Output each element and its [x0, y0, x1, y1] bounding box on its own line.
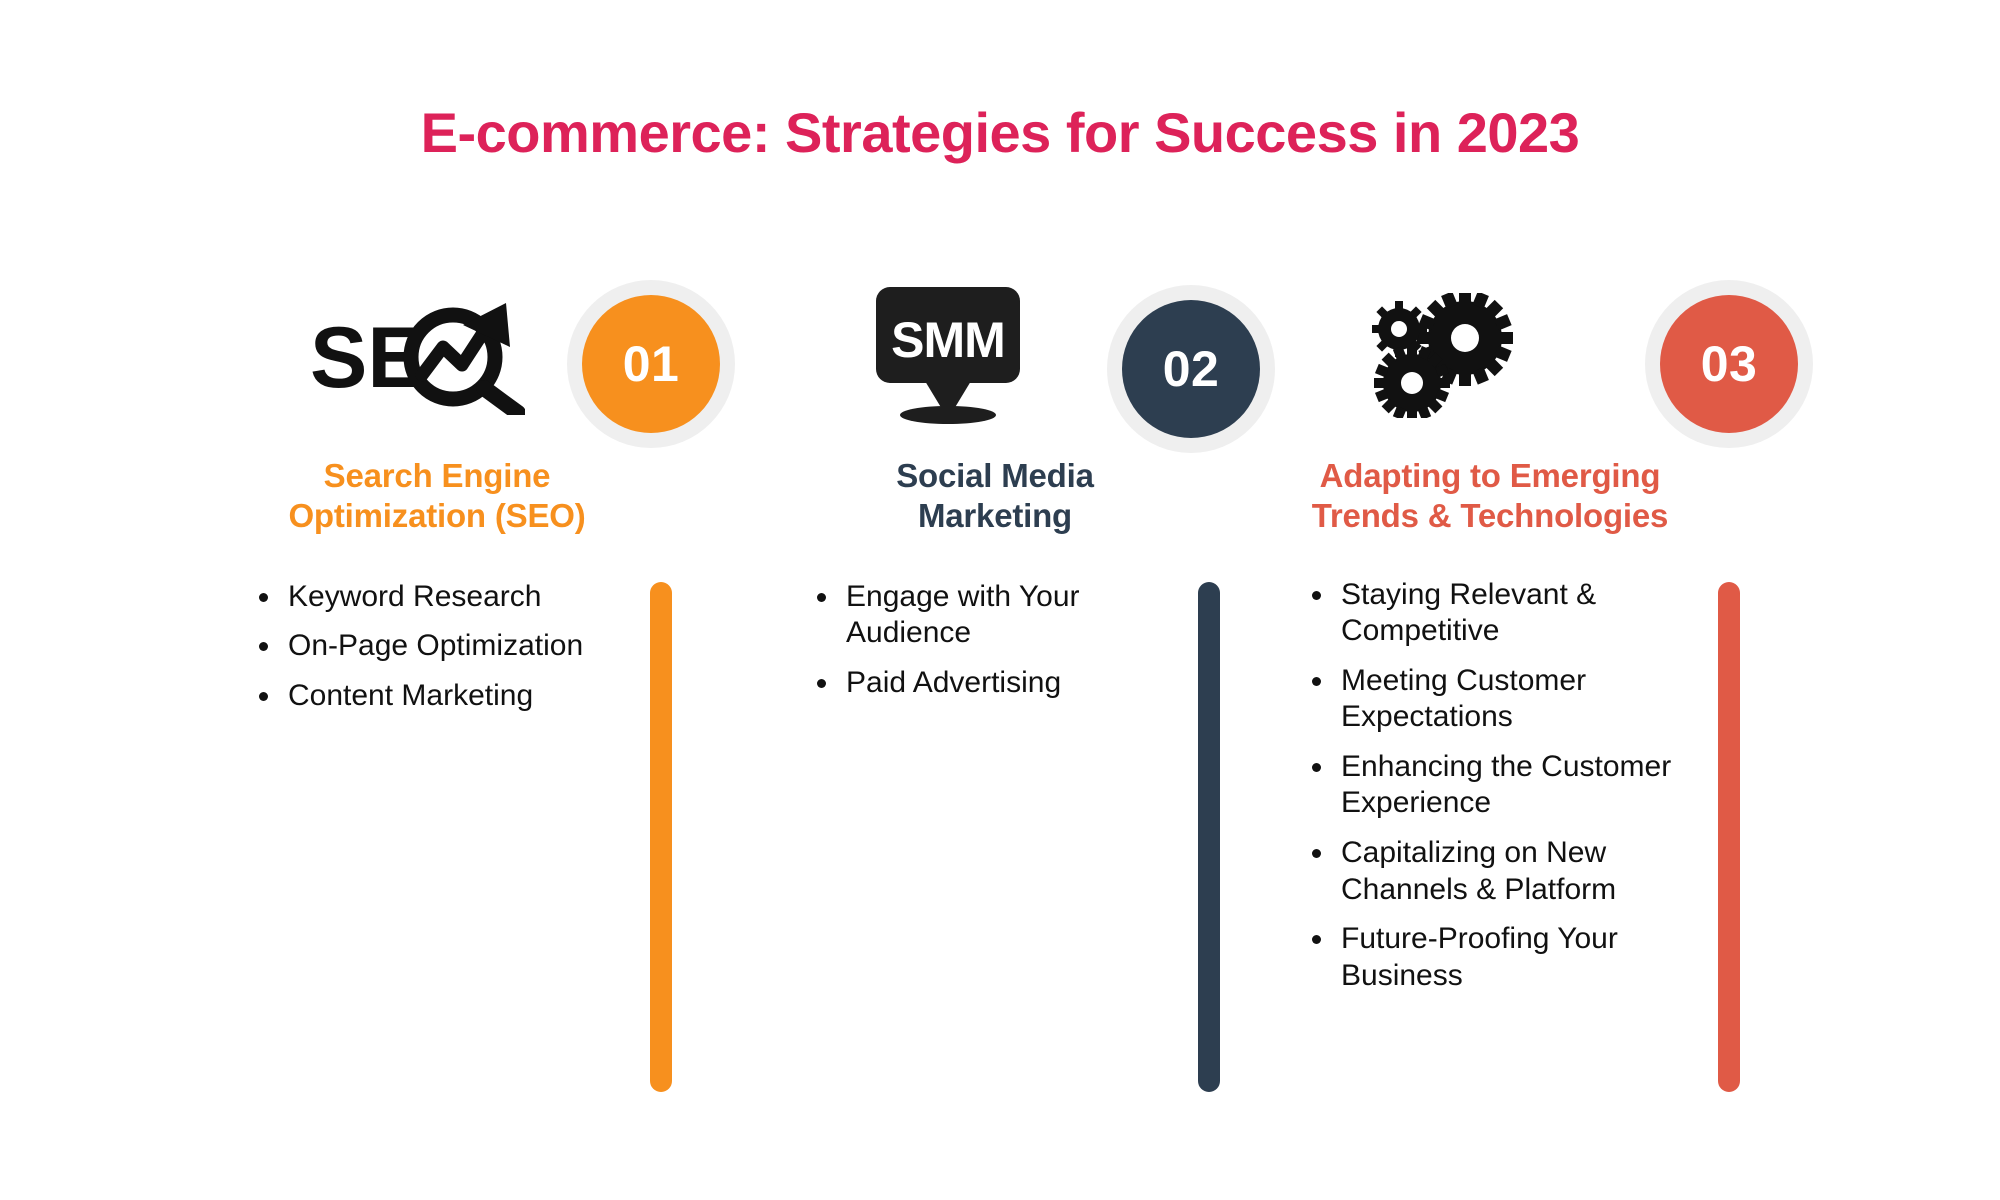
list-item: Engage with Your Audience [842, 579, 1210, 652]
page-title: E-commerce: Strategies for Success in 20… [0, 100, 2000, 165]
list-item: Keyword Research [284, 579, 652, 616]
step-badge-01: 01 [567, 280, 735, 448]
divider-bar-smm [1198, 582, 1220, 1092]
list-item: Meeting Customer Expectations [1337, 663, 1715, 736]
column-header-row-trends: 03 [1265, 280, 1715, 440]
column-smm: SMM 02 Social Media Marketing Engage wit… [780, 280, 1210, 714]
column-heading-seo: Search Engine Optimization (SEO) [222, 456, 652, 537]
step-number-02: 02 [1122, 300, 1260, 438]
bullet-list-seo: Keyword Research On-Page Optimization Co… [222, 579, 652, 715]
bullet-list-smm: Engage with Your Audience Paid Advertisi… [780, 579, 1210, 702]
infographic-canvas: E-commerce: Strategies for Success in 20… [0, 0, 2000, 1200]
list-item: On-Page Optimization [284, 628, 652, 665]
divider-bar-trends [1718, 582, 1740, 1092]
column-heading-smm: Social Media Marketing [780, 456, 1210, 537]
step-number-01: 01 [582, 295, 720, 433]
list-item: Paid Advertising [842, 665, 1210, 702]
list-item: Content Marketing [284, 678, 652, 715]
list-item: Capitalizing on New Channels & Platform [1337, 835, 1715, 908]
divider-bar-seo [650, 582, 672, 1092]
step-badge-02: 02 [1107, 285, 1275, 453]
smm-speech-bubble-icon: SMM [858, 280, 1038, 430]
column-header-row-smm: SMM 02 [780, 280, 1210, 440]
list-item: Staying Relevant & Competitive [1337, 577, 1715, 650]
svg-text:SMM: SMM [891, 312, 1005, 368]
column-trends: 03 Adapting to Emerging Trends & Technol… [1265, 280, 1715, 1007]
step-badge-03: 03 [1645, 280, 1813, 448]
column-header-row-seo: SE 01 [222, 280, 652, 440]
bullet-list-trends: Staying Relevant & Competitive Meeting C… [1265, 577, 1715, 995]
list-item: Enhancing the Customer Experience [1337, 749, 1715, 822]
step-number-03: 03 [1660, 295, 1798, 433]
column-seo: SE 01 Search Engine Optimization (SEO) K… [222, 280, 652, 727]
list-item: Future-Proofing Your Business [1337, 921, 1715, 994]
gears-icon [1357, 280, 1537, 430]
seo-icon: SE [310, 280, 525, 430]
column-heading-trends: Adapting to Emerging Trends & Technologi… [1265, 456, 1715, 537]
